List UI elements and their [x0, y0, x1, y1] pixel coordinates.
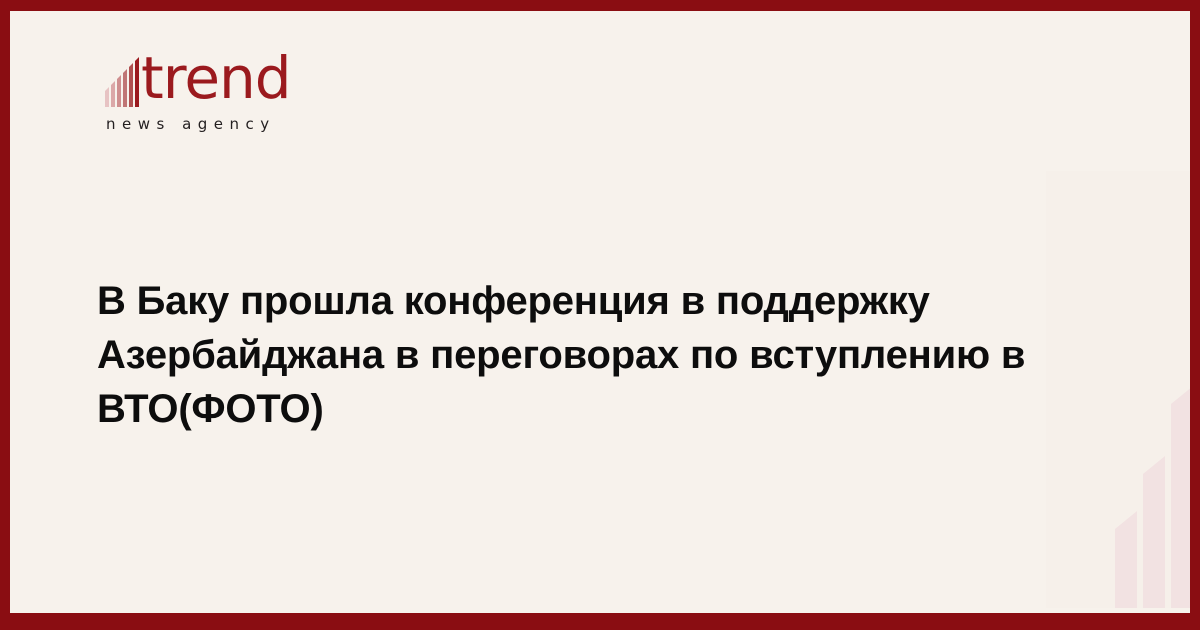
logo-bar-2 — [111, 81, 115, 107]
headline-line-2: Азербайджана в переговорах по вступлению… — [97, 328, 1007, 382]
logo-wordmark: trend — [141, 47, 291, 109]
watermark-logo-mark — [1040, 171, 1190, 608]
site-logo[interactable]: trend news agency — [97, 47, 397, 142]
watermark-bar-2 — [1143, 456, 1165, 608]
headline-line-1: В Баку прошла конференция в поддержку — [97, 274, 1007, 328]
watermark-bar-3 — [1171, 386, 1190, 608]
logo-bar-3 — [117, 75, 121, 107]
logo-tagline: news agency — [106, 115, 276, 133]
headline-line-3: ВТО(ФОТО) — [97, 382, 1007, 436]
logo-bar-5 — [129, 63, 133, 107]
logo-bar-1 — [105, 87, 109, 107]
logo-bar-4 — [123, 69, 127, 107]
share-card: trend news agency В Баку прошла конферен… — [0, 0, 1200, 630]
headline: В Баку прошла конференция в поддержку Аз… — [97, 274, 1007, 436]
logo-bar-6 — [135, 57, 139, 107]
watermark-bar-1 — [1115, 511, 1137, 608]
watermark-panel — [1046, 171, 1190, 608]
